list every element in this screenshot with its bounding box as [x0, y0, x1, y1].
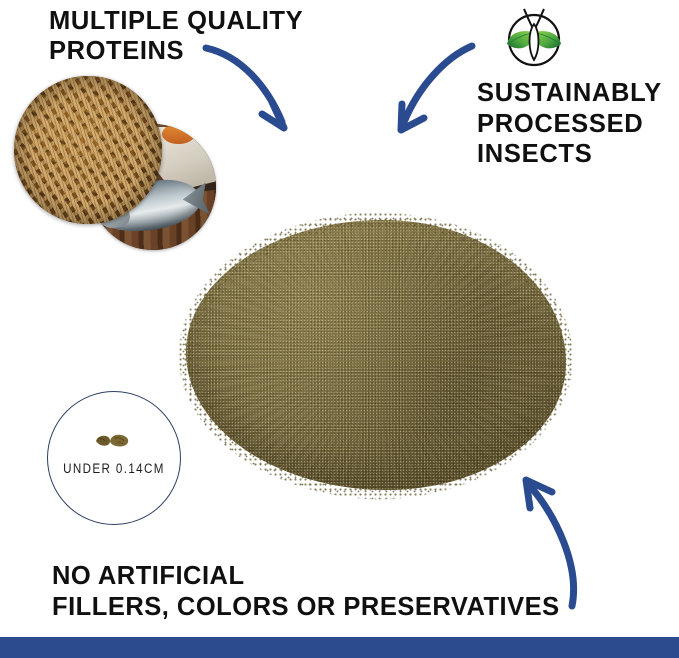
infographic-canvas: MULTIPLE QUALITY PROTEINS SUSTAINABLY PR…	[0, 0, 679, 658]
bottom-blue-band	[0, 637, 679, 658]
granule-sample-icon	[93, 432, 135, 450]
larvae-photo	[14, 76, 162, 224]
heading-no-artificial-fillers: NO ARTIFICIAL FILLERS, COLORS OR PRESERV…	[52, 561, 560, 622]
arrow-sustainable-to-powder	[384, 36, 484, 156]
size-callout-circle: UNDER 0.14CM	[47, 391, 181, 525]
insect-protein-powder-pile	[178, 212, 574, 500]
arrow-no-artificial-to-powder	[494, 462, 604, 612]
sustainable-insect-logo	[498, 2, 570, 74]
size-callout-label: UNDER 0.14CM	[57, 461, 171, 476]
arrow-proteins-to-powder	[196, 36, 306, 156]
heading-sustainably-processed-insects: SUSTAINABLY PROCESSED INSECTS	[477, 78, 662, 170]
